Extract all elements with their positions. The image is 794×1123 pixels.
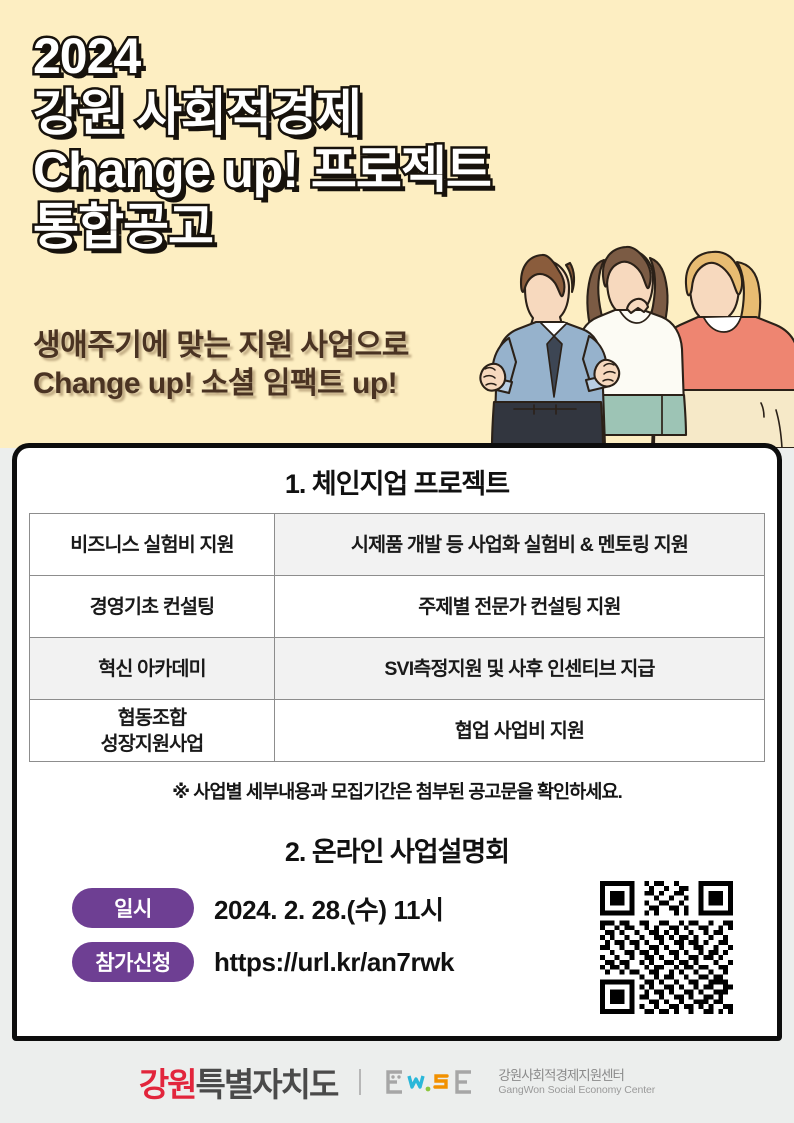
gwse-logo: 강원사회적경제지원센터 GangWon Social Economy Cente…	[383, 1066, 655, 1098]
gwse-mark-icon	[383, 1066, 491, 1098]
gwse-name-ko: 강원사회적경제지원센터	[498, 1068, 655, 1084]
footer-divider	[359, 1069, 361, 1095]
programs-table: 비즈니스 실험비 지원 시제품 개발 등 사업화 실험비 & 멘토링 지원 경영…	[29, 513, 765, 762]
poster-root: 2024 강원 사회적경제 Change up! 프로젝트 통합공고 생애주기에…	[0, 0, 794, 1123]
gangwon-province-logo: 강원특별자치도	[139, 1058, 338, 1106]
footer: 강원특별자치도 강원사회적경제지원센터	[0, 1041, 794, 1123]
content-card: 1. 체인지업 프로젝트 비즈니스 실험비 지원 시제품 개발 등 사업화 실험…	[12, 443, 782, 1041]
program-detail: 시제품 개발 등 사업화 실험비 & 멘토링 지원	[275, 514, 765, 576]
table-row: 협동조합 성장지원사업 협업 사업비 지원	[30, 700, 765, 762]
program-detail: 협업 사업비 지원	[275, 700, 765, 762]
program-detail: 주제별 전문가 컨설팅 지원	[275, 576, 765, 638]
qr-code[interactable]	[595, 876, 738, 1019]
program-name: 협동조합 성장지원사업	[30, 700, 275, 762]
table-note: ※ 사업별 세부내용과 모집기간은 첨부된 공고문을 확인하세요.	[17, 778, 777, 804]
apply-label-pill: 참가신청	[72, 942, 194, 982]
program-name: 경영기초 컨설팅	[30, 576, 275, 638]
table-row: 비즈니스 실험비 지원 시제품 개발 등 사업화 실험비 & 멘토링 지원	[30, 514, 765, 576]
gwse-text-block: 강원사회적경제지원센터 GangWon Social Economy Cente…	[498, 1068, 655, 1096]
gangwon-logo-suffix: 특별자치도	[196, 1066, 338, 1103]
gangwon-logo-prefix: 강원	[139, 1066, 196, 1103]
table-row: 경영기초 컨설팅 주제별 전문가 컨설팅 지원	[30, 576, 765, 638]
poster-subtitle: 생애주기에 맞는 지원 사업으로 Change up! 소셜 임팩트 up!	[33, 327, 409, 403]
hero-banner: 2024 강원 사회적경제 Change up! 프로젝트 통합공고 생애주기에…	[0, 0, 794, 448]
table-row: 혁신 아카데미 SVI측정지원 및 사후 인센티브 지급	[30, 638, 765, 700]
gwse-name-en: GangWon Social Economy Center	[498, 1084, 655, 1096]
people-illustration	[476, 205, 794, 448]
apply-url[interactable]: https://url.kr/an7rwk	[214, 947, 454, 978]
info-row-apply: 참가신청 https://url.kr/an7rwk	[72, 942, 454, 982]
section-1-heading: 1. 체인지업 프로젝트	[17, 462, 777, 501]
date-value: 2024. 2. 28.(수) 11시	[214, 890, 444, 927]
date-label-pill: 일시	[72, 888, 194, 928]
program-detail: SVI측정지원 및 사후 인센티브 지급	[275, 638, 765, 700]
section-2-heading: 2. 온라인 사업설명회	[17, 830, 777, 869]
poster-title: 2024 강원 사회적경제 Change up! 프로젝트 통합공고	[33, 28, 491, 256]
program-name: 혁신 아카데미	[30, 638, 275, 700]
program-name: 비즈니스 실험비 지원	[30, 514, 275, 576]
info-row-date: 일시 2024. 2. 28.(수) 11시	[72, 888, 444, 928]
